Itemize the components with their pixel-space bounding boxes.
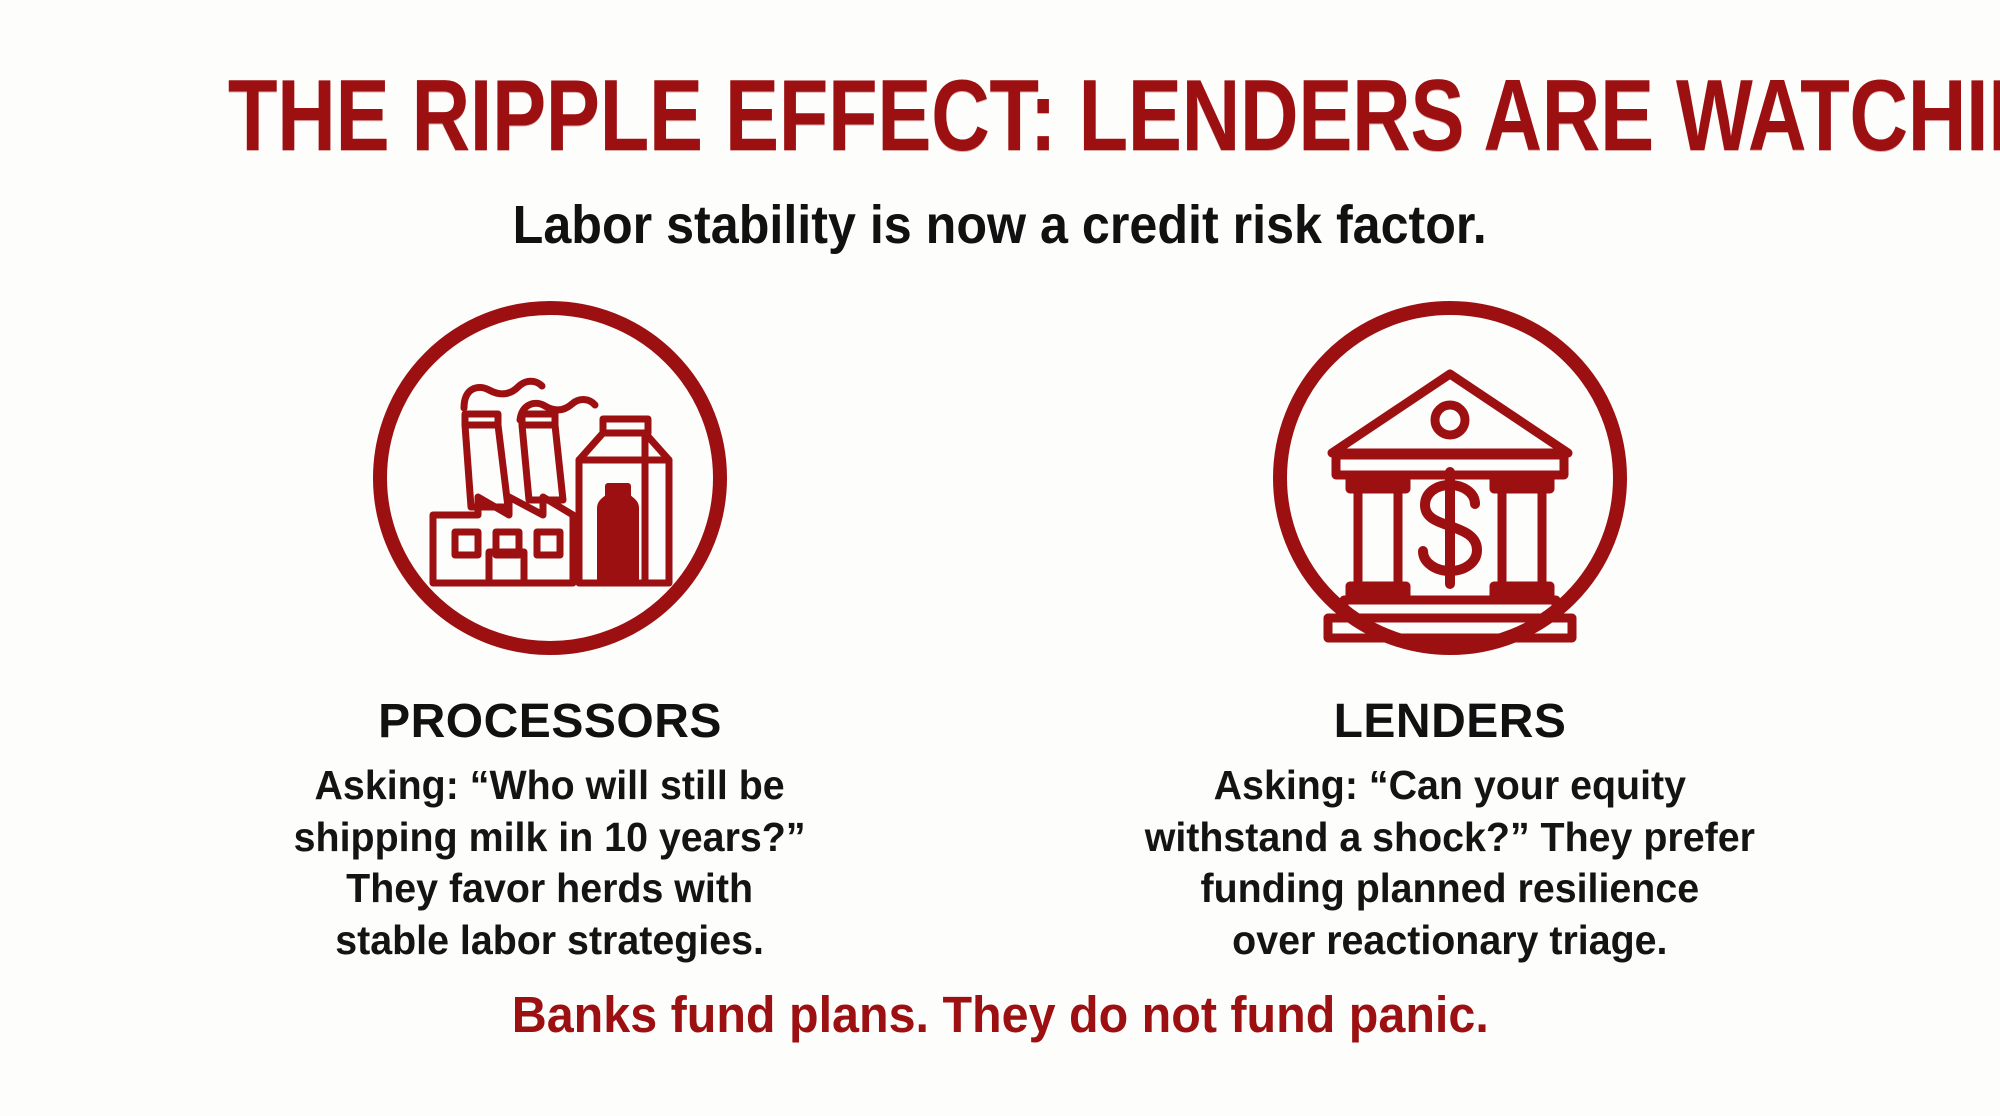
column-body-processors: Asking: “Who will still be shipping milk… [294,760,806,967]
bank-dollar-icon [1272,300,1628,656]
column-body-lenders: Asking: “Can your equity withstand a sho… [1145,760,1755,967]
tagline-container: Banks fund plans. They do not fund panic… [0,987,2000,1043]
title-container: THE RIPPLE EFFECT: LENDERS ARE WATCHING [0,66,2000,167]
factory-milk-carton-icon [372,300,728,656]
subtitle-container: Labor stability is now a credit risk fac… [0,196,2000,255]
columns-container: PROCESSORS Asking: “Who will still be sh… [0,300,2000,967]
column-heading-lenders: LENDERS [1334,698,1567,746]
column-lenders: LENDERS Asking: “Can your equity withsta… [1020,300,1880,967]
column-processors: PROCESSORS Asking: “Who will still be sh… [120,300,980,967]
footer-tagline: Banks fund plans. They do not fund panic… [511,987,1488,1043]
infographic-slide: THE RIPPLE EFFECT: LENDERS ARE WATCHING … [0,0,2000,1116]
page-subtitle: Labor stability is now a credit risk fac… [513,196,1487,255]
page-title: THE RIPPLE EFFECT: LENDERS ARE WATCHING [228,66,2000,167]
column-heading-processors: PROCESSORS [378,698,722,746]
